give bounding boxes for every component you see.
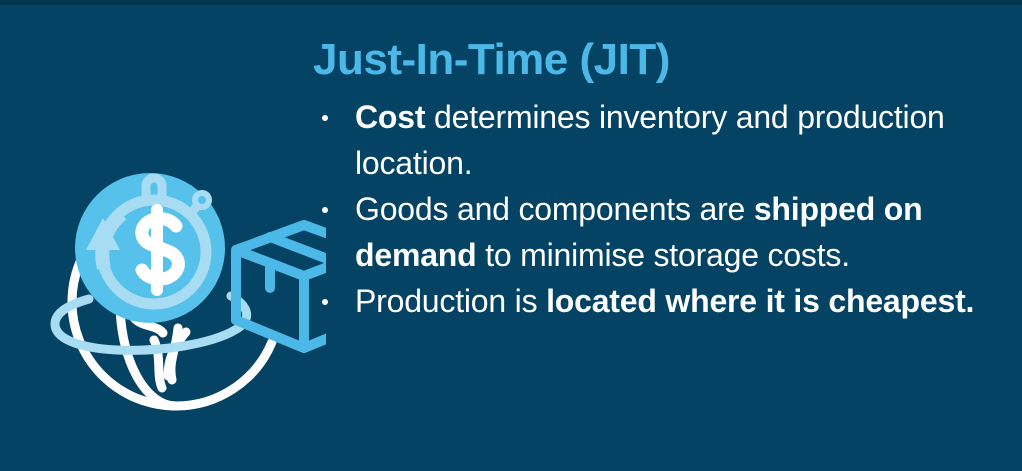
bullet-dot-icon (322, 299, 328, 305)
text-column: Just-In-Time (JIT) Cost determines inven… (313, 38, 1003, 324)
list-item: Cost determines inventory and production… (313, 94, 1003, 186)
bullet-text: to minimise storage costs. (477, 237, 850, 273)
stopwatch-button-cap-icon (195, 193, 209, 207)
bullet-dot-icon (322, 207, 328, 213)
list-item: Production is located where it is cheape… (313, 278, 1003, 324)
global-shipping-jit-illustration (26, 100, 326, 420)
bullet-list: Cost determines inventory and production… (313, 94, 1003, 324)
bullet-text-strong: Cost (355, 99, 425, 135)
slide-canvas: Just-In-Time (JIT) Cost determines inven… (0, 0, 1022, 471)
page-title: Just-In-Time (JIT) (313, 38, 1003, 82)
top-edge-band (0, 0, 1022, 5)
list-item: Goods and components are shipped on dema… (313, 186, 1003, 278)
bullet-text: Production is (355, 283, 546, 319)
bullet-text-strong: located where it is cheapest. (546, 283, 974, 319)
bullet-dot-icon (322, 115, 328, 121)
bullet-text: Goods and components are (355, 191, 754, 227)
cost-timer-badge-icon (75, 173, 225, 323)
bullet-text: determines inventory and production loca… (355, 99, 945, 181)
